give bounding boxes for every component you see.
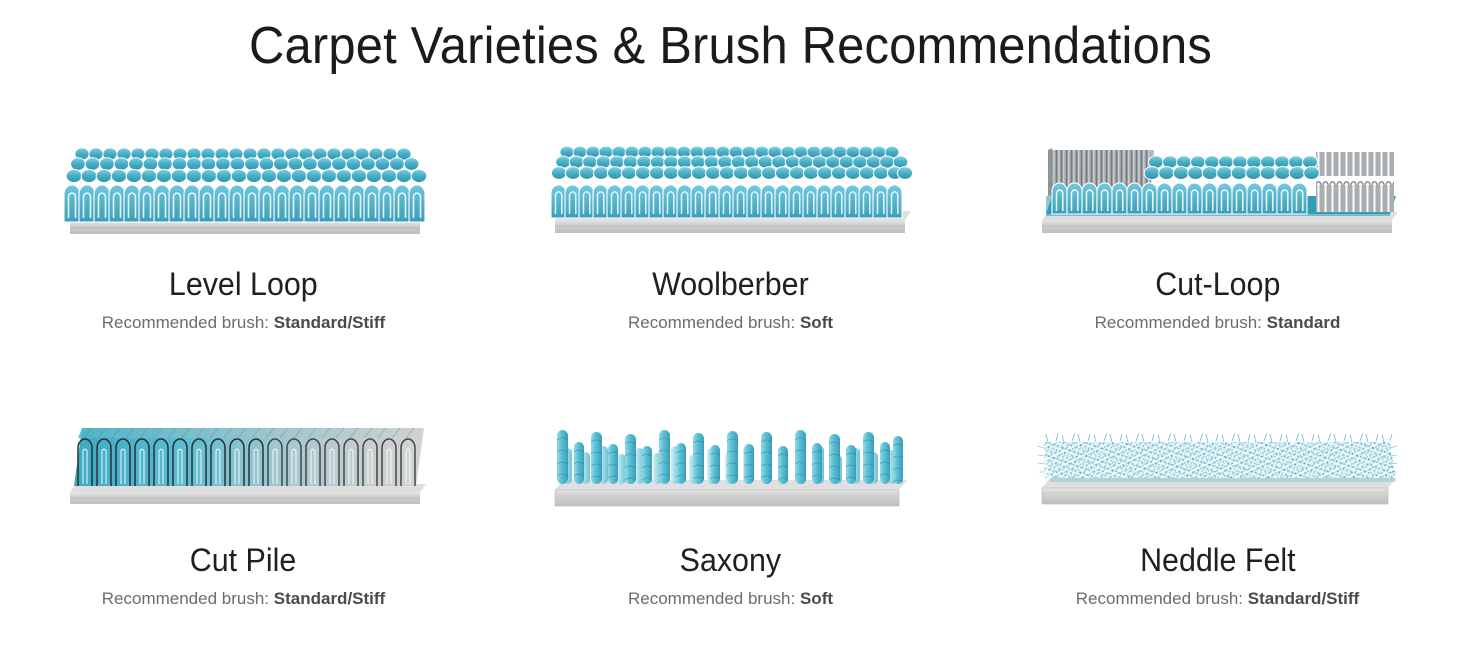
saxony-carpet-illustration: [541, 408, 921, 518]
brush-recommendation: Recommended brush: Soft: [628, 590, 833, 607]
brush-value: Soft: [800, 589, 833, 608]
brush-value: Standard/Stiff: [1248, 589, 1359, 608]
brush-value: Soft: [800, 313, 833, 332]
carpet-grid: Level Loop Recommended brush: Standard/S…: [0, 110, 1461, 670]
cut-pile-carpet-illustration: [54, 408, 434, 518]
brush-label: Recommended brush:: [1076, 589, 1243, 608]
brush-label: Recommended brush:: [102, 589, 269, 608]
brush-value: Standard: [1267, 313, 1341, 332]
brush-recommendation: Recommended brush: Standard/Stiff: [1076, 590, 1359, 607]
brush-recommendation: Recommended brush: Standard: [1095, 314, 1341, 331]
page-title: Carpet Varieties & Brush Recommendations: [44, 0, 1417, 72]
carpet-card-cut-pile: Cut Pile Recommended brush: Standard/Sti…: [0, 390, 487, 670]
brush-label: Recommended brush:: [628, 313, 795, 332]
level-loop-carpet-illustration: [54, 136, 434, 246]
brush-recommendation: Recommended brush: Standard/Stiff: [102, 590, 385, 607]
carpet-card-woolberber: Woolberber Recommended brush: Soft: [487, 110, 974, 390]
brush-recommendation: Recommended brush: Standard/Stiff: [102, 314, 385, 331]
woolberber-carpet-illustration: [541, 136, 921, 246]
carpet-name: Neddle Felt: [1140, 544, 1295, 576]
brush-label: Recommended brush:: [628, 589, 795, 608]
carpet-card-neddle-felt: Neddle Felt Recommended brush: Standard/…: [974, 390, 1461, 670]
carpet-name: Cut Pile: [190, 544, 296, 576]
brush-label: Recommended brush:: [102, 313, 269, 332]
carpet-name: Saxony: [680, 544, 781, 576]
brush-label: Recommended brush:: [1095, 313, 1262, 332]
brush-value: Standard/Stiff: [274, 589, 385, 608]
cut-loop-carpet-illustration: [1028, 136, 1408, 246]
brush-value: Standard/Stiff: [274, 313, 385, 332]
carpet-card-level-loop: Level Loop Recommended brush: Standard/S…: [0, 110, 487, 390]
carpet-card-saxony: Saxony Recommended brush: Soft: [487, 390, 974, 670]
carpet-card-cut-loop: Cut-Loop Recommended brush: Standard: [974, 110, 1461, 390]
carpet-name: Cut-Loop: [1155, 268, 1280, 300]
neddle-felt-carpet-illustration: [1028, 408, 1408, 518]
carpet-name: Level Loop: [169, 268, 318, 300]
brush-recommendation: Recommended brush: Soft: [628, 314, 833, 331]
carpet-name: Woolberber: [652, 268, 809, 300]
